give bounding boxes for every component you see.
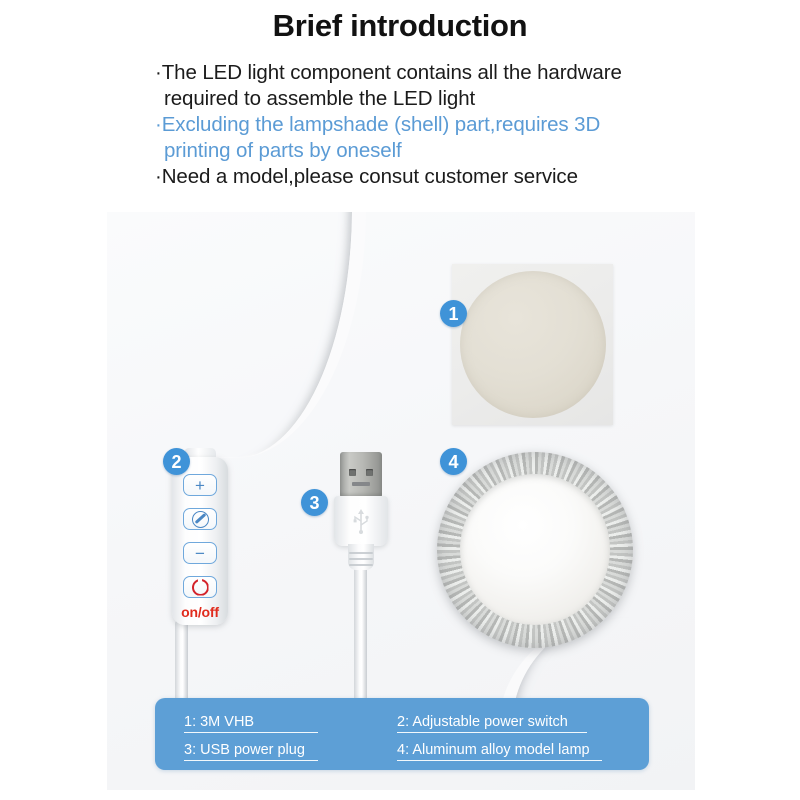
minus-icon: − <box>195 545 205 562</box>
legend-item-1: 1: 3M VHB <box>184 714 318 733</box>
intro-bullet-list: ·The LED light component contains all th… <box>155 60 665 190</box>
page-title: Brief introduction <box>0 8 800 44</box>
legend-item-3: 3: USB power plug <box>184 742 318 761</box>
power-button[interactable] <box>183 576 217 598</box>
usb-metal-connector <box>340 452 382 498</box>
usb-rib-3 <box>349 564 373 566</box>
adjustable-power-switch: + − on/off <box>172 457 228 625</box>
legend-item-4: 4: Aluminum alloy model lamp <box>397 742 602 761</box>
badge-2: 2 <box>163 448 190 475</box>
product-photo-panel: + − on/off <box>107 212 695 790</box>
intro-bullet-1: ·The LED light component contains all th… <box>155 60 665 112</box>
usb-contact-slot <box>352 482 370 486</box>
color-cycle-button[interactable] <box>183 508 217 530</box>
lamp-diffuser <box>460 474 610 625</box>
cycle-icon <box>192 511 209 528</box>
usb-rib-1 <box>349 552 373 554</box>
intro-bullet-3: ·Need a model,please consut customer ser… <box>155 164 665 190</box>
legend-item-2: 2: Adjustable power switch <box>397 714 587 733</box>
aluminum-alloy-model-lamp <box>437 452 633 648</box>
intro-bullet-2: ·Excluding the lampshade (shell) part,re… <box>155 112 665 164</box>
brightness-up-button[interactable]: + <box>183 474 217 496</box>
legend-box: 1: 3M VHB 2: Adjustable power switch 3: … <box>155 698 649 770</box>
3m-vhb-pad <box>452 264 613 425</box>
plus-icon: + <box>195 477 205 494</box>
usb-rib-2 <box>349 558 373 560</box>
badge-3: 3 <box>301 489 328 516</box>
on-off-label: on/off <box>172 604 228 620</box>
usb-contact-hole-right <box>366 469 373 476</box>
usb-contact-hole-left <box>349 469 356 476</box>
usb-strain-relief <box>348 544 374 570</box>
power-icon <box>192 579 209 596</box>
usb-trident-icon <box>351 508 371 534</box>
badge-1: 1 <box>440 300 467 327</box>
brightness-down-button[interactable]: − <box>183 542 217 564</box>
power-cable-top <box>202 212 366 458</box>
badge-4: 4 <box>440 448 467 475</box>
vhb-adhesive-disc <box>460 271 606 418</box>
usb-plug-body <box>334 496 388 546</box>
usb-power-plug <box>334 452 388 572</box>
